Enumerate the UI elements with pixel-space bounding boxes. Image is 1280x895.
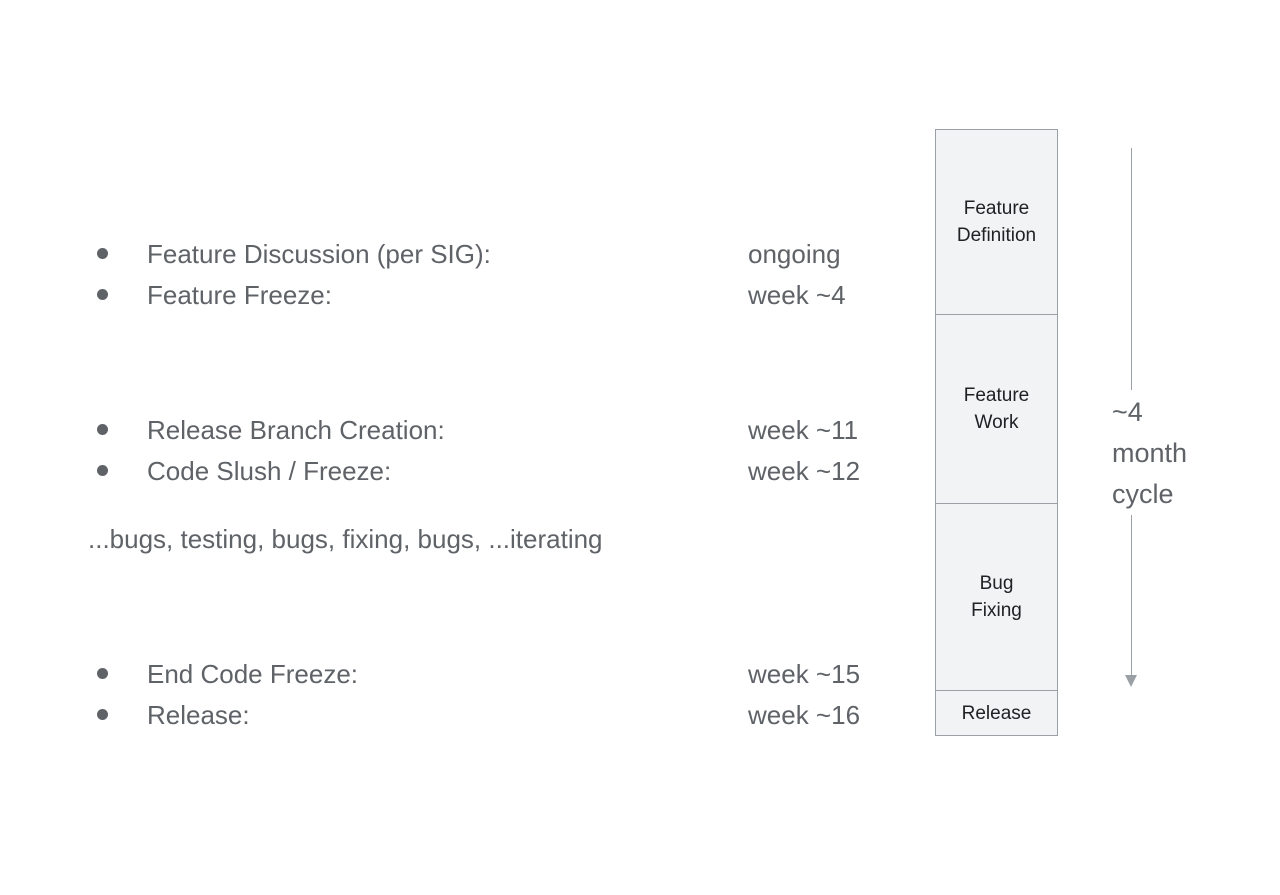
milestone-value: week ~4 — [748, 274, 846, 316]
timeline-milestone-list: Feature Discussion (per SIG): ongoing Fe… — [0, 0, 930, 895]
phase-box-feature-work: FeatureWork — [936, 315, 1057, 504]
milestone-label: Release: — [147, 694, 250, 736]
phase-box-text: Release — [958, 700, 1036, 727]
milestone-value: week ~12 — [748, 450, 860, 492]
milestone-row: End Code Freeze: week ~15 — [0, 653, 930, 695]
arrow-head-down-icon — [1125, 675, 1137, 687]
phase-box-bug-fixing: BugFixing — [936, 504, 1057, 691]
cycle-duration-arrow: ~4 month cycle — [1112, 140, 1262, 730]
phase-line-2: Work — [975, 412, 1019, 433]
phase-line-1: Release — [962, 703, 1032, 724]
milestone-value: ongoing — [748, 233, 841, 275]
milestone-value: week ~15 — [748, 653, 860, 695]
bullet-dot-icon — [97, 424, 108, 435]
milestone-row: Release Branch Creation: week ~11 — [0, 409, 930, 451]
milestone-label: Code Slush / Freeze: — [147, 450, 391, 492]
phase-line-1: Feature — [964, 385, 1029, 406]
arrow-line-upper — [1131, 148, 1132, 390]
milestone-label: Feature Discussion (per SIG): — [147, 233, 491, 275]
phase-box-release: Release — [936, 691, 1057, 735]
phase-box-text: FeatureDefinition — [953, 195, 1040, 249]
phase-line-1: Feature — [964, 198, 1029, 219]
bullet-dot-icon — [97, 248, 108, 259]
iteration-note: ...bugs, testing, bugs, fixing, bugs, ..… — [88, 518, 603, 560]
cycle-label-line-3: cycle — [1112, 479, 1174, 509]
milestone-label: Feature Freeze: — [147, 274, 332, 316]
phase-box-feature-definition: FeatureDefinition — [936, 130, 1057, 315]
release-phase-column: FeatureDefinition FeatureWork BugFixing … — [935, 129, 1058, 736]
milestone-row: Feature Freeze: week ~4 — [0, 274, 930, 316]
arrow-line-lower — [1131, 515, 1132, 677]
milestone-row: Release: week ~16 — [0, 694, 930, 736]
milestone-value: week ~11 — [748, 409, 858, 451]
bullet-dot-icon — [97, 465, 108, 476]
cycle-label-line-2: month — [1112, 438, 1187, 468]
phase-line-2: Fixing — [971, 600, 1022, 621]
phase-box-text: FeatureWork — [960, 382, 1033, 436]
bullet-dot-icon — [97, 289, 108, 300]
milestone-label: End Code Freeze: — [147, 653, 358, 695]
milestone-value: week ~16 — [748, 694, 860, 736]
bullet-dot-icon — [97, 668, 108, 679]
cycle-duration-label: ~4 month cycle — [1112, 392, 1187, 515]
cycle-label-line-1: ~4 — [1112, 397, 1143, 427]
milestone-row: Feature Discussion (per SIG): ongoing — [0, 233, 930, 275]
slide-canvas: Feature Discussion (per SIG): ongoing Fe… — [0, 0, 1280, 895]
phase-line-1: Bug — [980, 573, 1014, 594]
milestone-row: Code Slush / Freeze: week ~12 — [0, 450, 930, 492]
phase-line-2: Definition — [957, 225, 1036, 246]
milestone-label: Release Branch Creation: — [147, 409, 445, 451]
phase-box-text: BugFixing — [967, 570, 1026, 624]
bullet-dot-icon — [97, 709, 108, 720]
